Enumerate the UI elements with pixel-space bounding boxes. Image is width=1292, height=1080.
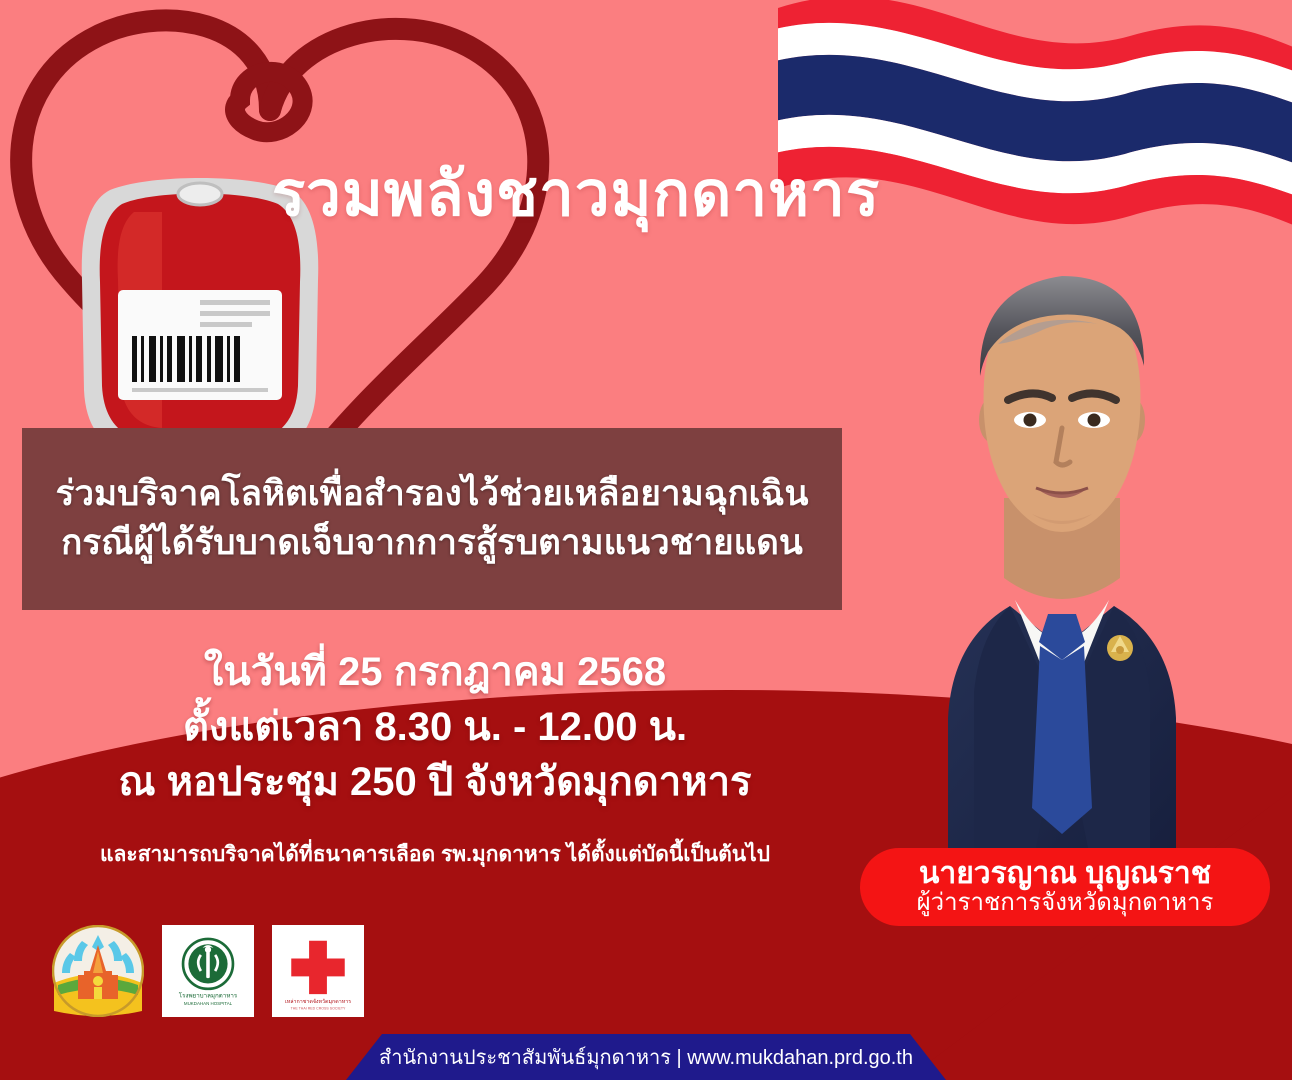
governor-position: ผู้ว่าราชการจังหวัดมุกดาหาร [917,890,1214,916]
footer-text: สำนักงานประชาสัมพันธ์มุกดาหาร | www.mukd… [379,1041,913,1073]
svg-text:THE THAI RED CROSS SOCIETY: THE THAI RED CROSS SOCIETY [291,1006,346,1010]
mukdahan-hospital-logo: โรงพยาบาลมุกดาหาร MUKDAHAN HOSPITAL [162,925,254,1017]
event-details: ในวันที่ 25 กรกฎาคม 2568 ตั้งแต่เวลา 8.3… [20,645,850,811]
event-time: ตั้งแต่เวลา 8.30 น. - 12.00 น. [20,700,850,755]
page-title: รวมพลังชาวมุกดาหาร [0,164,1292,226]
blood-donation-poster: รวมพลังชาวมุกดาหาร ร่วมบริจาคโลหิตเพื่อส… [0,0,1292,1080]
message-line-2: กรณีผู้ได้รับบาดเจ็บจากการสู้รบตามแนวชาย… [61,522,803,565]
logo-row: โรงพยาบาลมุกดาหาร MUKDAHAN HOSPITAL เหล่… [52,925,364,1017]
footer-banner: สำนักงานประชาสัมพันธ์มุกดาหาร | www.mukd… [346,1034,946,1080]
governor-name: นายวรญาณ บุญณราช [919,858,1211,890]
event-venue: ณ หอประชุม 250 ปี จังหวัดมุกดาหาร [20,755,850,810]
event-note: และสามารถบริจาคได้ที่ธนาคารเลือด รพ.มุกด… [20,838,850,871]
message-line-1: ร่วมบริจาคโลหิตเพื่อสำรองไว้ช่วยเหลือยาม… [56,473,809,516]
event-date: ในวันที่ 25 กรกฎาคม 2568 [20,645,850,700]
governor-portrait [852,248,1272,888]
svg-text:โรงพยาบาลมุกดาหาร: โรงพยาบาลมุกดาหาร [179,992,238,1000]
message-box: ร่วมบริจาคโลหิตเพื่อสำรองไว้ช่วยเหลือยาม… [22,428,842,610]
mukdahan-provincial-seal-icon [52,925,144,1017]
svg-text:เหล่ากาชาดจังหวัดมุกดาหาร: เหล่ากาชาดจังหวัดมุกดาหาร [285,998,351,1005]
thai-red-cross-logo: เหล่ากาชาดจังหวัดมุกดาหาร THE THAI RED C… [272,925,364,1017]
governor-name-badge: นายวรญาณ บุญณราช ผู้ว่าราชการจังหวัดมุกด… [860,848,1270,926]
svg-text:MUKDAHAN HOSPITAL: MUKDAHAN HOSPITAL [184,1001,233,1006]
